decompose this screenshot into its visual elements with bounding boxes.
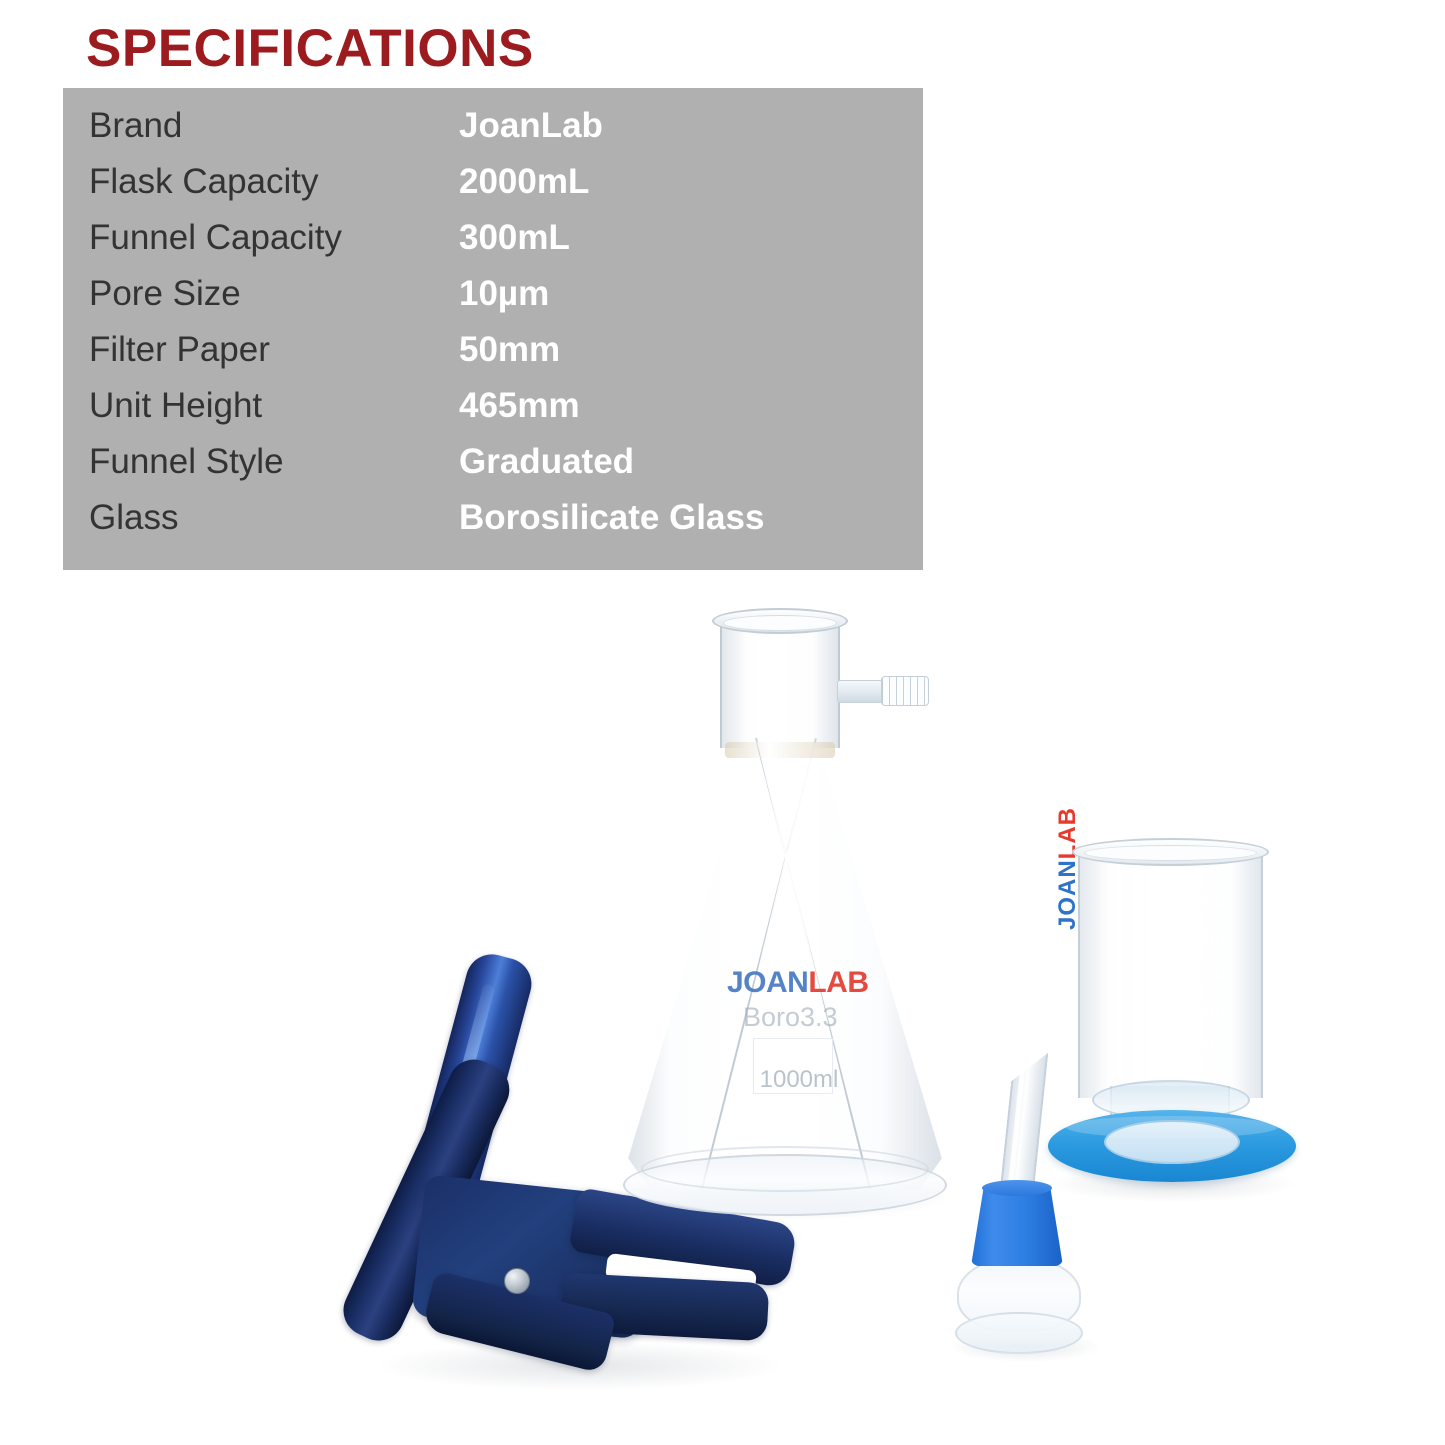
sidearm-hose-barb bbox=[881, 676, 929, 706]
graduation-tick bbox=[1168, 868, 1188, 870]
graduation-tick bbox=[1168, 1012, 1188, 1014]
spec-row: Funnel Capacity 300mL bbox=[63, 216, 923, 272]
flask-neck bbox=[720, 616, 840, 748]
graduation-minor bbox=[1168, 886, 1260, 887]
flask-brand-lab: LAB bbox=[808, 966, 868, 999]
graduation-minor bbox=[1168, 922, 1260, 923]
graduation-tick bbox=[1168, 976, 1188, 978]
graduation-tick-minor bbox=[1168, 922, 1180, 924]
spec-label: Funnel Style bbox=[89, 440, 284, 484]
spec-row: Pore Size 10µm bbox=[63, 272, 923, 328]
blue-rubber-stopper-top bbox=[982, 1180, 1052, 1196]
glass-filter-base bbox=[945, 1050, 1105, 1372]
funnel-base-center bbox=[1104, 1120, 1240, 1164]
spec-value: 50mm bbox=[459, 328, 560, 372]
sidearm-tube bbox=[837, 680, 883, 703]
funnel-brand-logo: JOANLAB bbox=[1054, 807, 1082, 930]
flask-capacity-mark: 1000ml bbox=[753, 1066, 845, 1094]
graduation-tick-minor bbox=[1168, 1030, 1180, 1032]
spec-value: 2000mL bbox=[459, 160, 589, 204]
funnel-brand-joan: JOAN bbox=[1054, 859, 1081, 930]
graduation-tick bbox=[1168, 1048, 1188, 1050]
filtering-flask: JOANLAB Boro3.3 1000ml bbox=[615, 598, 955, 1230]
graduation-tick-minor bbox=[1168, 886, 1180, 888]
graduation-mark: 300 bbox=[1168, 868, 1260, 869]
product-spec-page: SPECIFICATIONS Brand JoanLab Flask Capac… bbox=[0, 0, 1445, 1445]
graduation-mark: 50 bbox=[1168, 1048, 1260, 1049]
specifications-panel: Brand JoanLab Flask Capacity 2000mL Funn… bbox=[63, 88, 923, 570]
flask-body bbox=[625, 738, 945, 1190]
graduation-minor bbox=[1168, 994, 1260, 995]
product-image: JOANLAB Boro3.3 1000ml 300 250 bbox=[0, 570, 1445, 1445]
graduation-tick-minor bbox=[1168, 958, 1180, 960]
page-title: SPECIFICATIONS bbox=[86, 18, 534, 79]
spec-value: 10µm bbox=[459, 272, 549, 316]
spec-row: Flask Capacity 2000mL bbox=[63, 160, 923, 216]
clamp-pivot-screw bbox=[504, 1268, 530, 1294]
graduation-tick bbox=[1168, 940, 1188, 942]
flask-base-ring bbox=[641, 1146, 929, 1192]
spec-row: Glass Borosilicate Glass bbox=[63, 496, 923, 552]
spec-label: Unit Height bbox=[89, 384, 262, 428]
blue-rubber-stopper bbox=[971, 1186, 1063, 1266]
spec-label: Flask Capacity bbox=[89, 160, 319, 204]
flask-shoulder bbox=[725, 742, 835, 758]
graduation-mark: 150 bbox=[1168, 976, 1260, 977]
graduation-label: 200 bbox=[1194, 928, 1226, 950]
flask-sidearm bbox=[837, 676, 929, 706]
spec-label: Funnel Capacity bbox=[89, 216, 342, 260]
spec-label: Brand bbox=[89, 104, 182, 148]
spec-label: Pore Size bbox=[89, 272, 241, 316]
filter-base-foot bbox=[955, 1312, 1083, 1354]
spec-value: 465mm bbox=[459, 384, 580, 428]
graduation-tick bbox=[1168, 904, 1188, 906]
spec-value: Graduated bbox=[459, 440, 634, 484]
graduation-minor bbox=[1168, 1030, 1260, 1031]
clamp-lower-handle-hole bbox=[348, 1076, 374, 1105]
graduation-label: 250 bbox=[1194, 892, 1226, 914]
graduation-tick-minor bbox=[1168, 994, 1180, 996]
graduation-label: 50 bbox=[1194, 1036, 1215, 1058]
flask-glass-grade: Boro3.3 bbox=[743, 1002, 838, 1033]
funnel-graduation-scale: 300 250 200 150 bbox=[1168, 864, 1260, 1086]
spec-row: Funnel Style Graduated bbox=[63, 440, 923, 496]
flask-brand-logo: JOANLAB bbox=[727, 966, 869, 1000]
graduation-mark: 200 bbox=[1168, 940, 1260, 941]
spec-value: 300mL bbox=[459, 216, 570, 260]
graduation-minor bbox=[1168, 958, 1260, 959]
spec-value: JoanLab bbox=[459, 104, 603, 148]
graduation-label: 100 bbox=[1194, 1000, 1226, 1022]
graduation-mark: 250 bbox=[1168, 904, 1260, 905]
spec-row: Filter Paper 50mm bbox=[63, 328, 923, 384]
spec-label: Filter Paper bbox=[89, 328, 270, 372]
spec-row: Unit Height 465mm bbox=[63, 384, 923, 440]
flask-lip-inner bbox=[723, 615, 837, 631]
spec-value: Borosilicate Glass bbox=[459, 496, 764, 540]
spec-label: Glass bbox=[89, 496, 178, 540]
graduation-mark: 100 bbox=[1168, 1012, 1260, 1013]
spec-row: Brand JoanLab bbox=[63, 104, 923, 160]
flask-brand-joan: JOAN bbox=[727, 966, 808, 999]
clamp-upper-handle-hole bbox=[425, 980, 448, 1008]
funnel-rim-inner bbox=[1084, 845, 1257, 861]
graduation-label: 150 bbox=[1194, 964, 1226, 986]
